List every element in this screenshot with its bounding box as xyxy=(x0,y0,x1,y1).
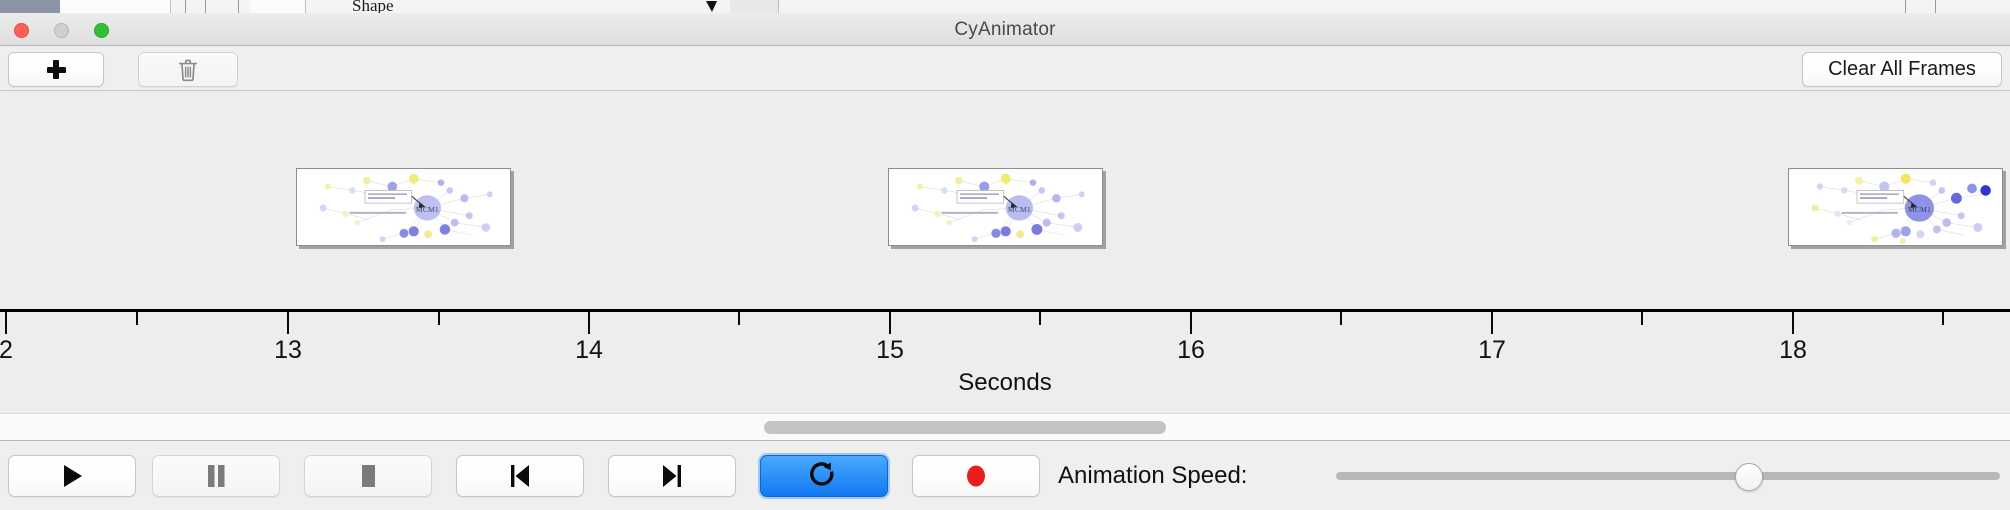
axis-tick-major xyxy=(287,312,289,334)
slider-track[interactable] xyxy=(1336,472,2000,480)
axis-tick-label: 15 xyxy=(876,336,904,365)
bg-chip xyxy=(60,0,171,13)
slider-thumb[interactable] xyxy=(1735,463,1763,491)
frame-thumbnail[interactable]: MCM1 xyxy=(296,168,511,246)
network-thumbnail-icon: MCM1 xyxy=(297,169,510,245)
axis-tick-minor xyxy=(1039,312,1041,325)
axis-tick-minor xyxy=(1340,312,1342,325)
axis-tick-label: 18 xyxy=(1779,336,1807,365)
axis-tick-major xyxy=(1491,312,1493,334)
bg-window-label: Shape xyxy=(352,0,394,14)
bg-tick xyxy=(238,0,239,13)
record-button[interactable] xyxy=(912,455,1040,497)
bg-tick xyxy=(1905,0,1906,13)
bg-chip xyxy=(250,0,306,13)
network-thumbnail-icon: MCM1 xyxy=(1789,169,2002,245)
frames-layer: MCM1 xyxy=(0,91,2010,311)
axis-tick-label: 17 xyxy=(1478,336,1506,365)
add-frame-button[interactable] xyxy=(8,52,104,87)
axis-tick-label: 2 xyxy=(0,336,13,365)
axis-tick-minor xyxy=(438,312,440,325)
axis-tick-label: 13 xyxy=(274,336,302,365)
axis-tick-minor xyxy=(1942,312,1944,325)
plus-icon xyxy=(47,60,66,79)
pause-button[interactable] xyxy=(152,455,280,497)
axis-tick-label: 16 xyxy=(1177,336,1205,365)
skip-forward-icon xyxy=(659,462,685,490)
play-button[interactable] xyxy=(8,455,136,497)
axis-tick-major xyxy=(1792,312,1794,334)
frames-toolbar: Clear All Frames xyxy=(0,46,2010,91)
axis-tick-major xyxy=(889,312,891,334)
animation-speed-slider[interactable] xyxy=(1336,455,2000,497)
bg-tick xyxy=(185,0,186,13)
skip-back-icon xyxy=(507,462,533,490)
bg-chip xyxy=(0,0,61,13)
stop-button[interactable] xyxy=(304,455,432,497)
frame-forward-button[interactable] xyxy=(608,455,736,497)
play-icon xyxy=(59,462,85,490)
cyanimator-window: Shape CyAnimator Clear All Frames xyxy=(0,0,2010,510)
bg-wedge-icon xyxy=(706,1,717,12)
axis-tick-minor xyxy=(136,312,138,325)
axis-tick-major xyxy=(5,312,7,334)
stop-icon xyxy=(356,462,380,490)
axis-tick-minor xyxy=(1641,312,1643,325)
axis-tick-minor xyxy=(738,312,740,325)
bg-tick xyxy=(205,0,206,13)
background-window-strip: Shape xyxy=(0,0,2010,14)
pause-icon xyxy=(204,462,228,490)
axis-tick-major xyxy=(588,312,590,334)
loop-button[interactable] xyxy=(760,455,888,497)
animation-speed-label: Animation Speed: xyxy=(1058,455,1247,497)
record-icon xyxy=(963,462,989,490)
playback-control-bar: Animation Speed: xyxy=(0,442,2010,510)
timeline-scrollbar[interactable] xyxy=(0,413,2010,441)
delete-frame-button[interactable] xyxy=(138,52,238,87)
bg-tick xyxy=(1935,0,1936,13)
bg-chip xyxy=(730,0,779,13)
timeline-axis-line xyxy=(0,309,2010,312)
window-title: CyAnimator xyxy=(0,13,2010,46)
axis-title: Seconds xyxy=(0,369,2010,397)
scrollbar-thumb[interactable] xyxy=(764,421,1166,434)
frame-back-button[interactable] xyxy=(456,455,584,497)
axis-tick-label: 14 xyxy=(575,336,603,365)
title-bar[interactable]: CyAnimator xyxy=(0,13,2010,46)
clear-all-frames-button[interactable]: Clear All Frames xyxy=(1802,52,2002,87)
timeline-panel[interactable]: MCM1 xyxy=(0,91,2010,413)
axis-tick-major xyxy=(1190,312,1192,334)
trash-icon xyxy=(177,58,199,82)
network-thumbnail-icon: MCM1 xyxy=(889,169,1102,245)
frame-thumbnail[interactable]: MCM1 xyxy=(888,168,1103,246)
loop-icon xyxy=(810,461,838,491)
frame-thumbnail[interactable]: MCM1 xyxy=(1788,168,2003,246)
